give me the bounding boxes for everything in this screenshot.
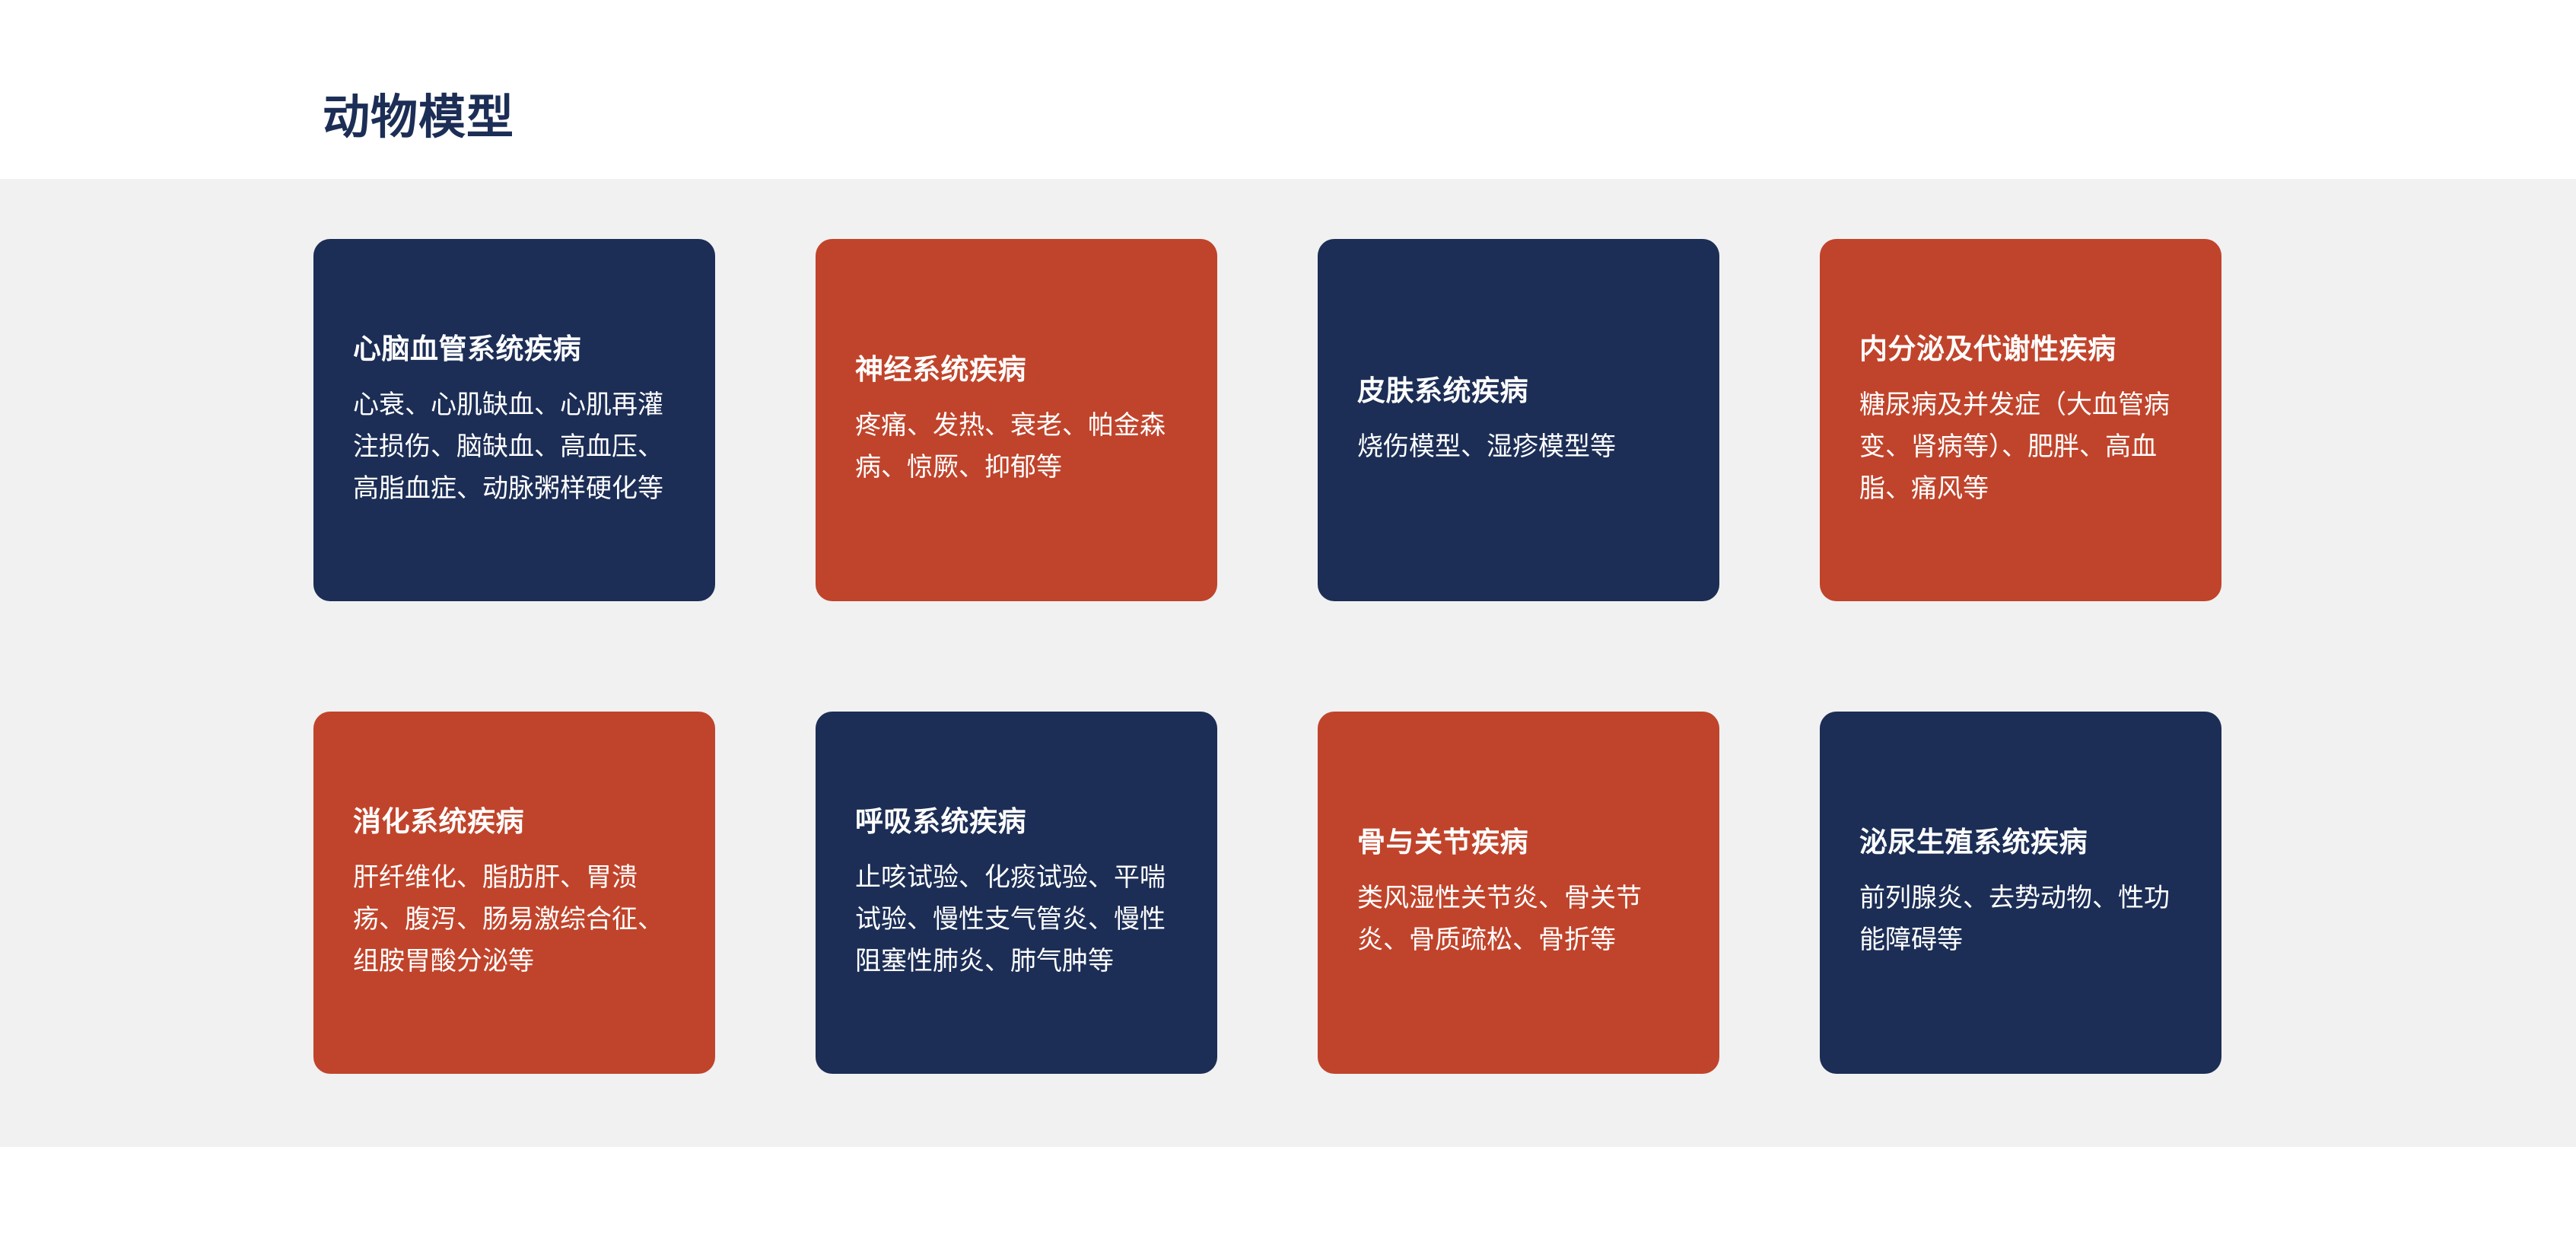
- card-body: 前列腺炎、去势动物、性功能障碍等: [1859, 877, 2182, 961]
- page-title: 动物模型: [323, 90, 514, 146]
- disease-category-card-grid: 心脑血管系统疾病 心衰、心肌缺血、心肌再灌注损伤、脑缺血、高血压、高脂血症、动脉…: [313, 239, 2224, 1074]
- card-body: 类风湿性关节炎、骨关节炎、骨质疏松、骨折等: [1357, 877, 1680, 961]
- card-body: 糖尿病及并发症（大血管病变、肾病等）、肥胖、高血脂、痛风等: [1859, 384, 2182, 510]
- card-heading: 神经系统疾病: [855, 352, 1178, 388]
- card-heading: 内分泌及代谢性疾病: [1859, 331, 2182, 368]
- card-heading: 皮肤系统疾病: [1357, 373, 1680, 409]
- disease-card-urogenital[interactable]: 泌尿生殖系统疾病 前列腺炎、去势动物、性功能障碍等: [1820, 712, 2221, 1074]
- disease-card-digestive[interactable]: 消化系统疾病 肝纤维化、脂肪肝、胃溃疡、腹泻、肠易激综合征、组胺胃酸分泌等: [313, 712, 715, 1074]
- card-heading: 心脑血管系统疾病: [353, 331, 676, 368]
- disease-card-neurological[interactable]: 神经系统疾病 疼痛、发热、衰老、帕金森病、惊厥、抑郁等: [816, 239, 1217, 601]
- card-heading: 泌尿生殖系统疾病: [1859, 824, 2182, 861]
- card-heading: 骨与关节疾病: [1357, 824, 1680, 861]
- footer-band: [0, 1147, 2576, 1242]
- card-body: 心衰、心肌缺血、心肌再灌注损伤、脑缺血、高血压、高脂血症、动脉粥样硬化等: [353, 384, 676, 510]
- card-body: 肝纤维化、脂肪肝、胃溃疡、腹泻、肠易激综合征、组胺胃酸分泌等: [353, 857, 676, 982]
- disease-card-respiratory[interactable]: 呼吸系统疾病 止咳试验、化痰试验、平喘试验、慢性支气管炎、慢性阻塞性肺炎、肺气肿…: [816, 712, 1217, 1074]
- disease-card-dermatological[interactable]: 皮肤系统疾病 烧伤模型、湿疹模型等: [1318, 239, 1719, 601]
- animal-model-page: 动物模型 心脑血管系统疾病 心衰、心肌缺血、心肌再灌注损伤、脑缺血、高血压、高脂…: [0, 0, 2576, 1242]
- content-section: 心脑血管系统疾病 心衰、心肌缺血、心肌再灌注损伤、脑缺血、高血压、高脂血症、动脉…: [0, 179, 2576, 1147]
- disease-card-bone-joint[interactable]: 骨与关节疾病 类风湿性关节炎、骨关节炎、骨质疏松、骨折等: [1318, 712, 1719, 1074]
- header-band: 动物模型: [0, 0, 2576, 179]
- card-heading: 呼吸系统疾病: [855, 804, 1178, 840]
- card-body: 止咳试验、化痰试验、平喘试验、慢性支气管炎、慢性阻塞性肺炎、肺气肿等: [855, 857, 1178, 982]
- card-heading: 消化系统疾病: [353, 804, 676, 840]
- card-body: 烧伤模型、湿疹模型等: [1357, 426, 1680, 468]
- disease-card-cardiovascular[interactable]: 心脑血管系统疾病 心衰、心肌缺血、心肌再灌注损伤、脑缺血、高血压、高脂血症、动脉…: [313, 239, 715, 601]
- card-body: 疼痛、发热、衰老、帕金森病、惊厥、抑郁等: [855, 405, 1178, 489]
- disease-card-endocrine-metabolic[interactable]: 内分泌及代谢性疾病 糖尿病及并发症（大血管病变、肾病等）、肥胖、高血脂、痛风等: [1820, 239, 2221, 601]
